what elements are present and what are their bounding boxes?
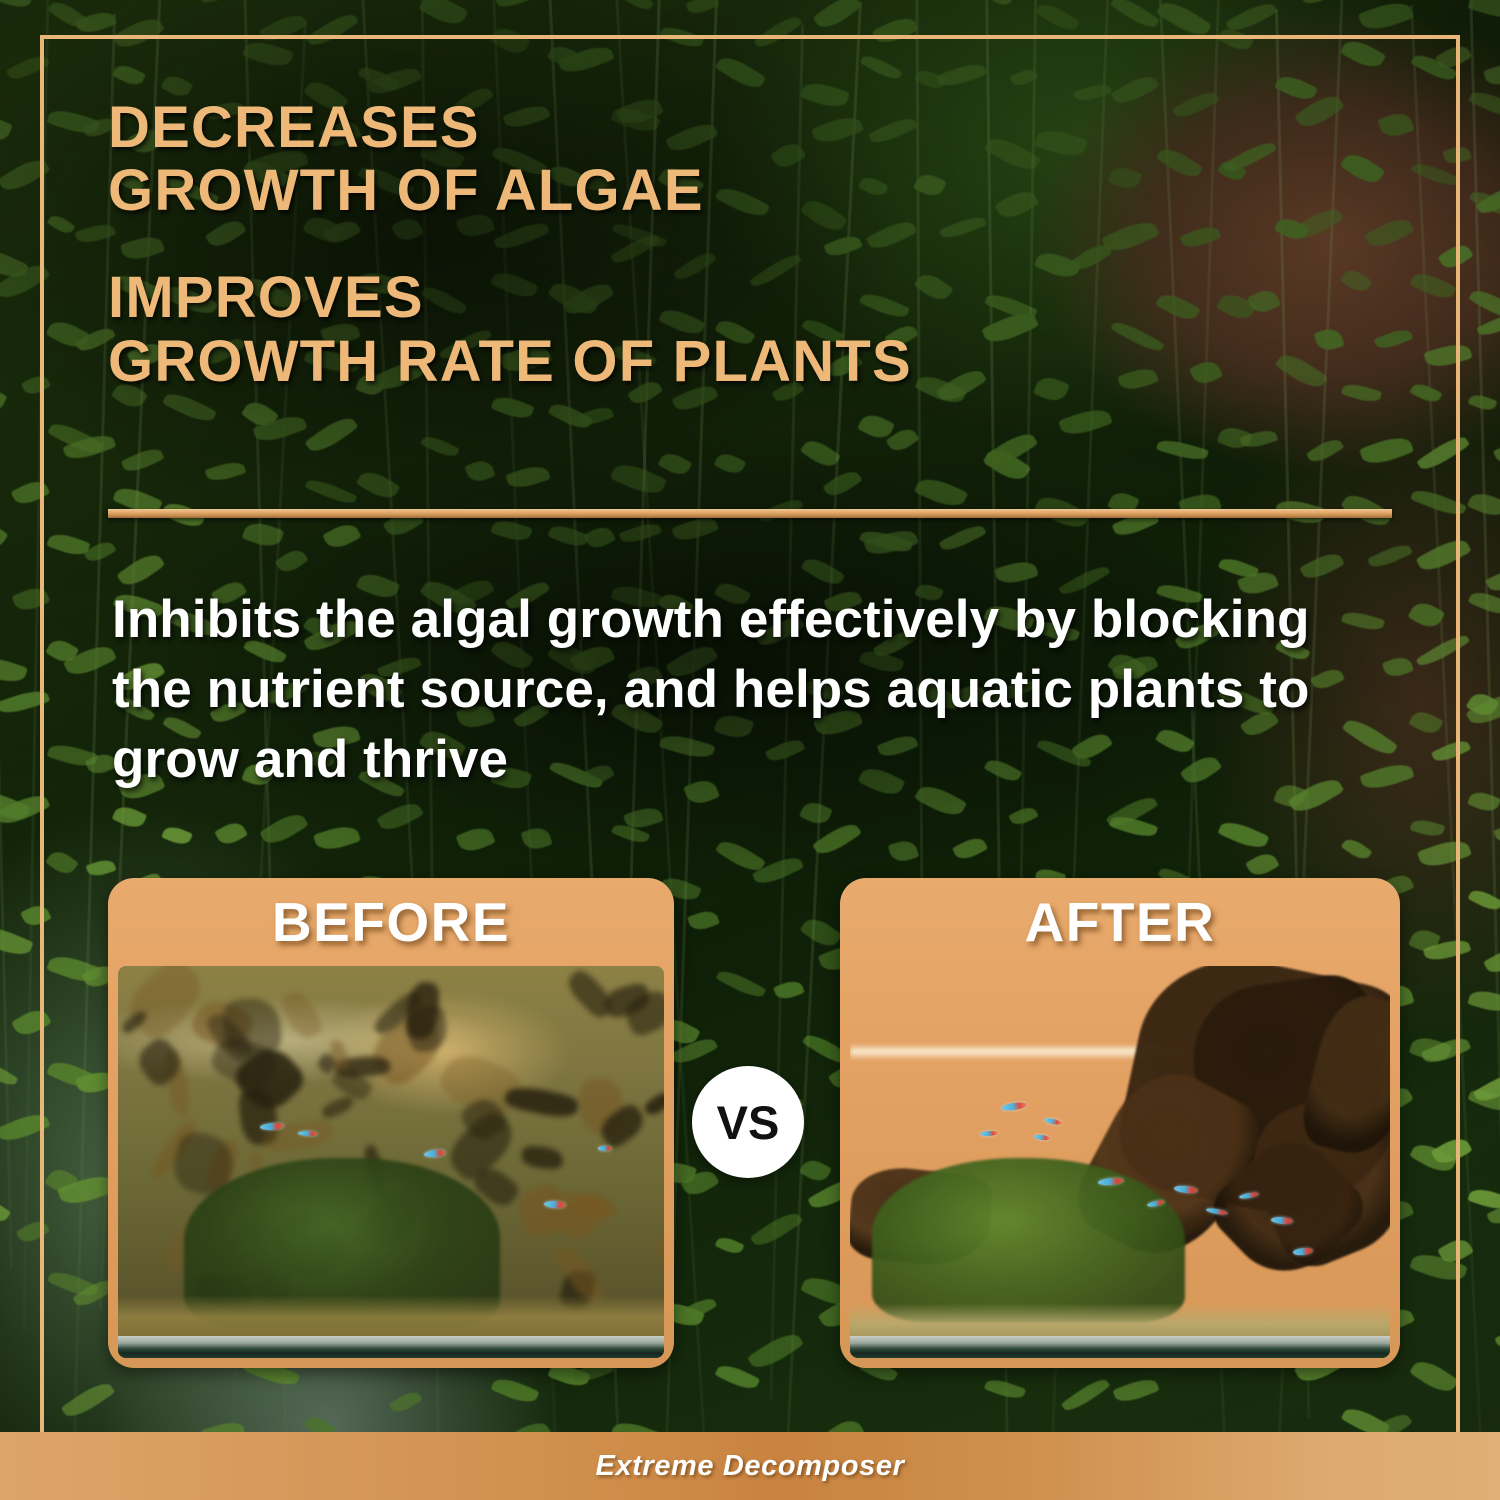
- neon-tetra-fish: [544, 1201, 566, 1209]
- headline-1-line-2: GROWTH OF ALGAE: [108, 159, 1228, 222]
- before-panel: BEFORE: [108, 878, 674, 1368]
- before-aquarium-photo: [118, 966, 664, 1358]
- after-fish-group: [850, 966, 1390, 1358]
- footer-brand-bar: Extreme Decomposer: [0, 1432, 1500, 1500]
- after-tank-rim: [850, 1336, 1390, 1358]
- neon-tetra-fish: [1292, 1247, 1313, 1256]
- neon-tetra-fish: [1206, 1207, 1229, 1216]
- neon-tetra-fish: [1098, 1177, 1125, 1186]
- before-fish-group: [118, 966, 664, 1358]
- after-panel: AFTER: [840, 878, 1400, 1368]
- after-panel-title: AFTER: [840, 878, 1400, 966]
- headline-block-1: DECREASES GROWTH OF ALGAE: [108, 96, 1228, 222]
- neon-tetra-fish: [1033, 1133, 1050, 1140]
- neon-tetra-fish: [423, 1149, 446, 1158]
- gold-divider-rule: [108, 509, 1392, 518]
- neon-tetra-fish: [1001, 1101, 1028, 1112]
- body-description-text: Inhibits the algal growth effectively by…: [112, 585, 1342, 795]
- neon-tetra-fish: [1044, 1117, 1063, 1126]
- neon-tetra-fish: [979, 1130, 997, 1136]
- neon-tetra-fish: [1271, 1216, 1293, 1225]
- headline-group: DECREASES GROWTH OF ALGAE IMPROVES GROWT…: [108, 96, 1228, 393]
- neon-tetra-fish: [598, 1146, 612, 1151]
- before-panel-title: BEFORE: [108, 878, 674, 966]
- after-aquarium-photo: [850, 966, 1390, 1358]
- neon-tetra-fish: [1147, 1199, 1166, 1208]
- headline-1-line-1: DECREASES: [108, 96, 1228, 159]
- headline-2-line-2: GROWTH RATE OF PLANTS: [108, 330, 1228, 393]
- product-feature-poster: DECREASES GROWTH OF ALGAE IMPROVES GROWT…: [0, 0, 1500, 1500]
- vs-badge-label: VS: [717, 1095, 780, 1150]
- before-tank-rim: [118, 1336, 664, 1358]
- neon-tetra-fish: [260, 1122, 284, 1131]
- headline-2-line-1: IMPROVES: [108, 266, 1228, 329]
- neon-tetra-fish: [1174, 1184, 1199, 1193]
- headline-block-2: IMPROVES GROWTH RATE OF PLANTS: [108, 266, 1228, 392]
- neon-tetra-fish: [298, 1130, 318, 1136]
- footer-brand-name: Extreme Decomposer: [596, 1450, 905, 1483]
- vs-badge: VS: [692, 1066, 804, 1178]
- neon-tetra-fish: [1239, 1192, 1260, 1200]
